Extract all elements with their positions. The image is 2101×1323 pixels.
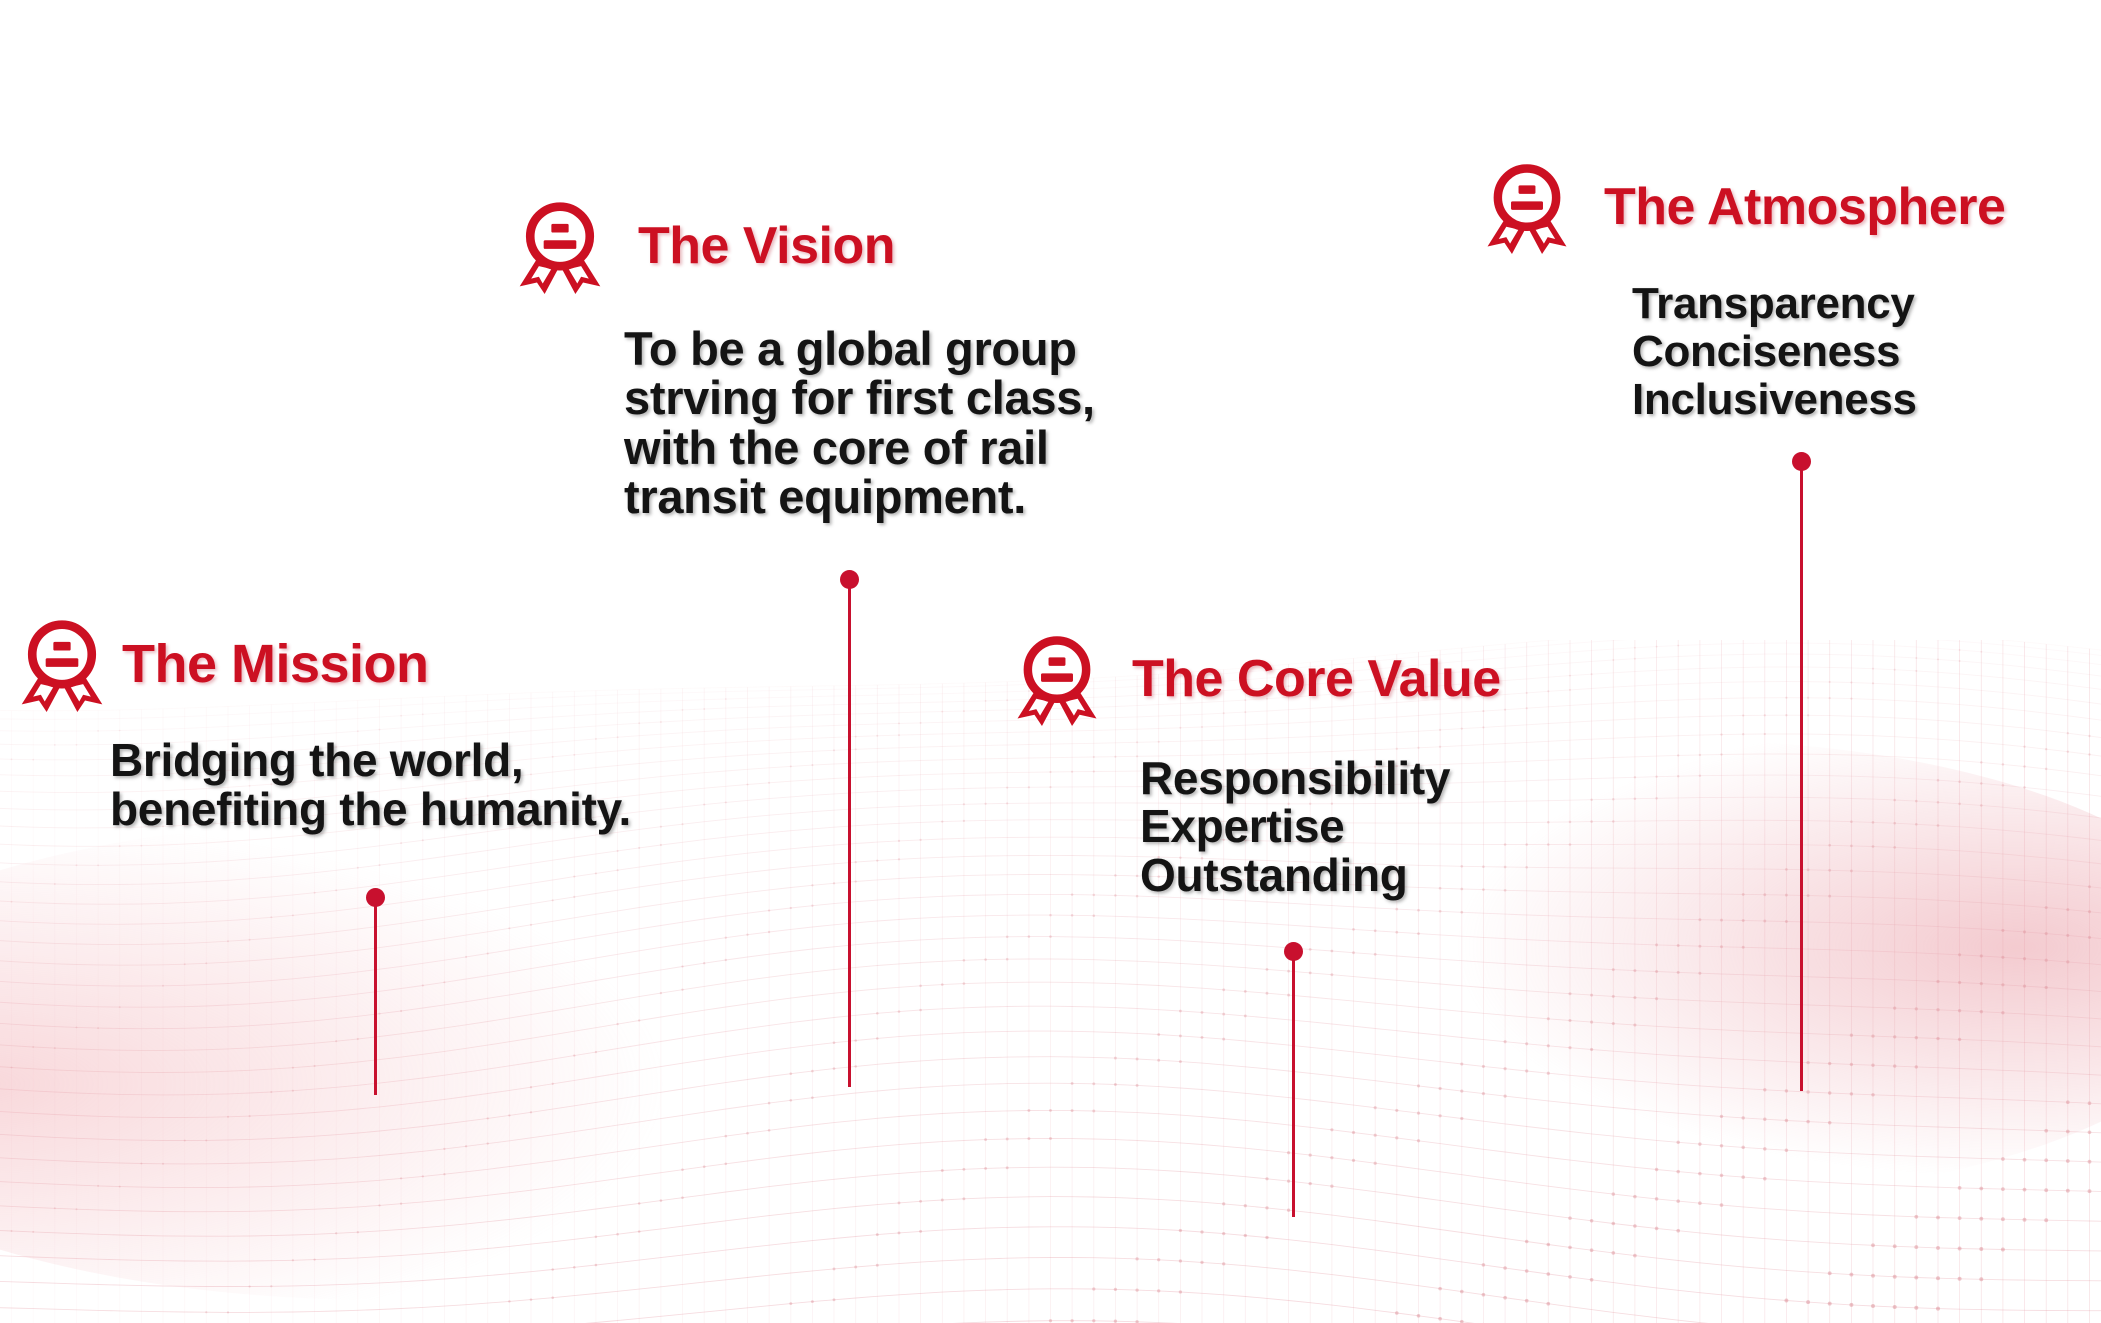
block-mission-body: Bridging the world, benefiting the human… xyxy=(110,736,631,834)
body-line: benefiting the humanity. xyxy=(110,785,631,834)
body-line: To be a global group xyxy=(624,324,1095,373)
block-atmosphere-header: The Atmosphere xyxy=(1480,160,2005,254)
block-mission-header: The Mission xyxy=(14,616,631,712)
connector-stem xyxy=(374,897,377,1095)
connector-stem xyxy=(848,579,851,1087)
connector-stem xyxy=(1292,951,1295,1217)
block-vision-title: The Vision xyxy=(638,220,895,272)
block-atmosphere-title: The Atmosphere xyxy=(1604,181,2005,233)
block-mission-title: The Mission xyxy=(122,637,429,691)
body-line: Outstanding xyxy=(1140,851,1501,899)
body-line: strving for first class, xyxy=(624,373,1095,422)
connector-stem xyxy=(1800,461,1803,1091)
body-line: Conciseness xyxy=(1632,328,2005,376)
block-core-value: The Core Value Responsibility Expertise … xyxy=(1010,632,1501,899)
block-vision-header: The Vision xyxy=(512,198,1095,294)
body-line: transit equipment. xyxy=(624,472,1095,521)
block-vision-body: To be a global group strving for first c… xyxy=(624,324,1095,521)
award-ribbon-icon xyxy=(512,198,608,294)
body-line: Expertise xyxy=(1140,802,1501,850)
body-line: Responsibility xyxy=(1140,754,1501,802)
body-line: with the core of rail xyxy=(624,423,1095,472)
block-atmosphere: The Atmosphere Transparency Conciseness … xyxy=(1480,160,2005,424)
slide-canvas: The Mission Bridging the world, benefiti… xyxy=(0,0,2101,1323)
body-line: Transparency xyxy=(1632,280,2005,328)
award-ribbon-icon xyxy=(14,616,110,712)
block-mission: The Mission Bridging the world, benefiti… xyxy=(14,616,631,834)
block-core-value-body: Responsibility Expertise Outstanding xyxy=(1140,754,1501,899)
block-atmosphere-body: Transparency Conciseness Inclusiveness xyxy=(1632,280,2005,424)
award-ribbon-icon xyxy=(1480,160,1574,254)
body-line: Inclusiveness xyxy=(1632,376,2005,424)
block-core-value-title: The Core Value xyxy=(1132,653,1501,705)
body-line: Bridging the world, xyxy=(110,736,631,785)
block-core-value-header: The Core Value xyxy=(1010,632,1501,726)
award-ribbon-icon xyxy=(1010,632,1104,726)
block-vision: The Vision To be a global group strving … xyxy=(512,198,1095,521)
